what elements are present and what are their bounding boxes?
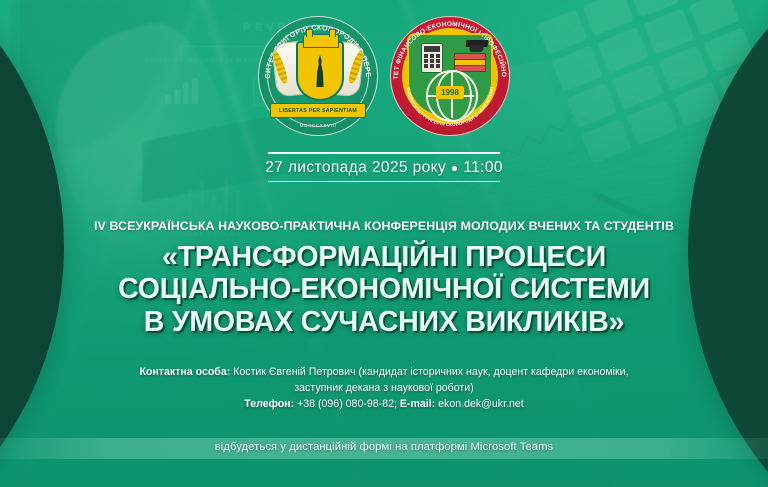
poster-content: 27 листопада 2025 року ● 11:00 IV ВСЕУКР…: [0, 0, 768, 487]
phone-value: +38 (096) 080-98-82;: [297, 398, 397, 410]
email-label: E-mail:: [400, 398, 435, 410]
contact-person-name: Костик Євгеній Петрович (кандидат істори…: [233, 366, 628, 378]
contact-person-line-2: заступник декана з наукової роботи): [0, 380, 768, 396]
contact-person-line-1: Контактна особа: Костик Євгеній Петрович…: [0, 364, 768, 380]
contact-block: Контактна особа: Костик Євгеній Петрович…: [0, 364, 768, 412]
date-rule-bottom: [268, 181, 500, 183]
time-text: 11:00: [463, 159, 503, 176]
contact-person-label: Контактна особа:: [139, 366, 230, 378]
conference-poster: REVENUE COMMERCIAL INSIGHTS FINANCIAL AN…: [0, 0, 768, 487]
date-block: 27 листопада 2025 року ● 11:00: [0, 152, 768, 182]
title-line-1: «ТРАНСФОРМАЦІЙНІ ПРОЦЕСИ: [0, 241, 768, 273]
contact-phone-email-line: Телефон: +38 (096) 080-98-82; E-mail: ek…: [0, 396, 768, 412]
footer-note: відбудеться у дистанційній формі на плат…: [0, 441, 768, 453]
title-line-3: В УМОВАХ СУЧАСНИХ ВИКЛИКІВ»: [0, 306, 768, 338]
email-value: ekon.dek@ukr.net: [438, 398, 524, 410]
title-line-2: СОЦІАЛЬНО-ЕКОНОМІЧНОЇ СИСТЕМИ: [0, 273, 768, 305]
date-text: 27 листопада 2025 року: [265, 159, 446, 176]
date-time-line: 27 листопада 2025 року ● 11:00: [0, 154, 768, 181]
conference-kicker: IV ВСЕУКРАЇНСЬКА НАУКОВО-ПРАКТИЧНА КОНФЕ…: [0, 219, 768, 233]
date-separator: ●: [451, 161, 459, 175]
conference-title: «ТРАНСФОРМАЦІЙНІ ПРОЦЕСИ СОЦІАЛЬНО-ЕКОНО…: [0, 241, 768, 338]
phone-label: Телефон:: [244, 398, 294, 410]
